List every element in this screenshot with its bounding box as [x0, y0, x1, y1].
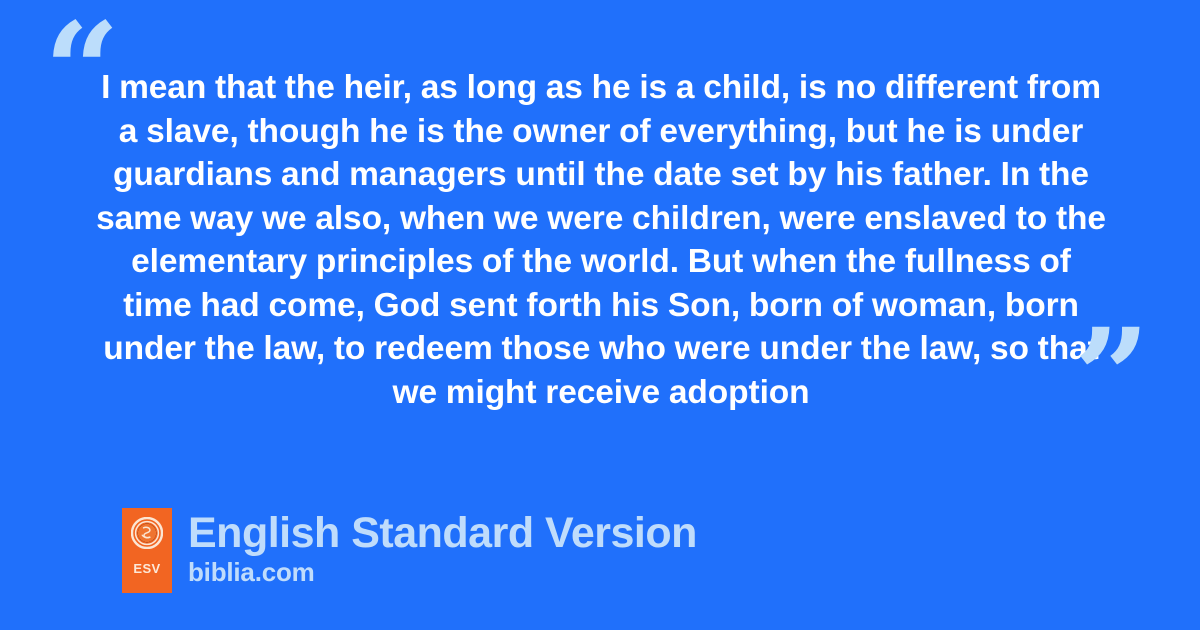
esv-seal-icon — [131, 517, 163, 549]
bible-version-title: English Standard Version — [188, 510, 697, 557]
brand-text-block: English Standard Version biblia.com — [188, 508, 697, 587]
brand-footer: ESV English Standard Version biblia.com — [122, 508, 697, 593]
esv-logo-abbreviation: ESV — [133, 562, 160, 575]
quote-card: “ I mean that the heir, as long as he is… — [0, 0, 1200, 460]
quote-card-page: { "background_color": "#2070fb", "accent… — [0, 0, 1200, 630]
quote-text: I mean that the heir, as long as he is a… — [96, 66, 1106, 414]
brand-website-url[interactable]: biblia.com — [188, 558, 697, 587]
closing-quote-icon: ” — [1074, 312, 1148, 444]
esv-logo: ESV — [122, 508, 172, 593]
